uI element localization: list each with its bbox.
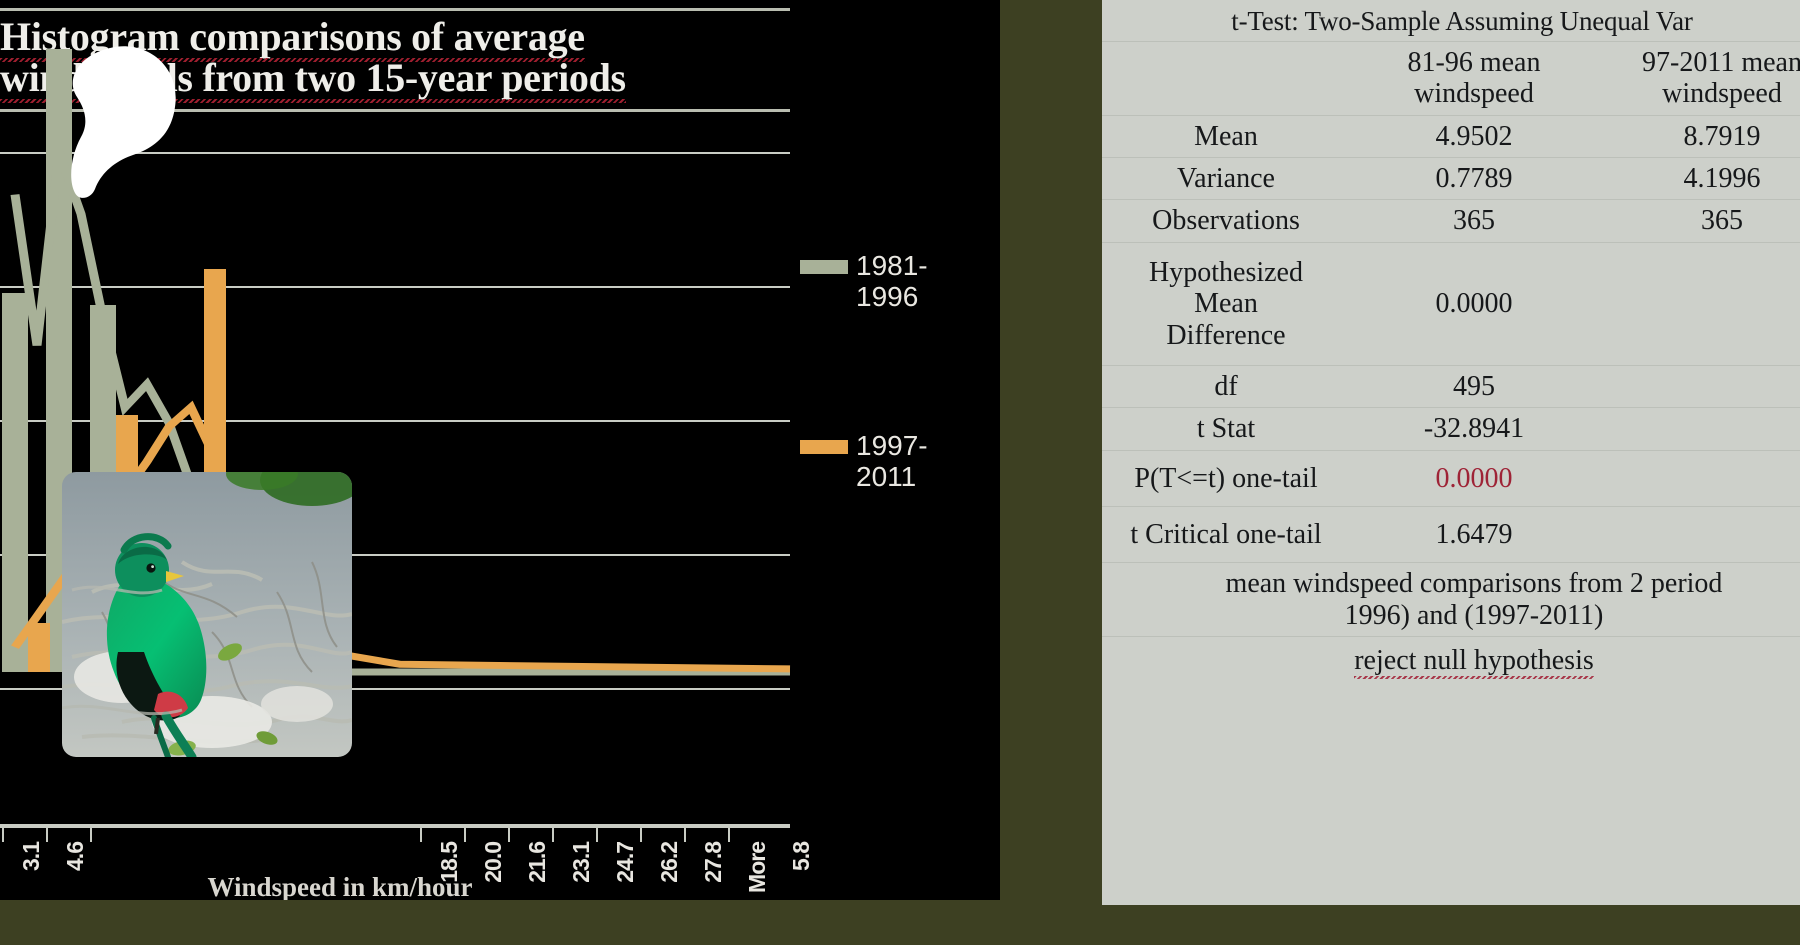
row-value-2 xyxy=(1598,450,1800,506)
legend-swatch-orange xyxy=(800,440,848,454)
legend-label-line1: 1981- xyxy=(856,250,966,281)
table-row: t Critical one-tail 1.6479 xyxy=(1102,506,1800,562)
row-label: Observations xyxy=(1102,200,1350,242)
row-label: df xyxy=(1102,365,1350,407)
row-label: P(T<=t) one-tail xyxy=(1102,450,1350,506)
row-value-1: 365 xyxy=(1350,200,1598,242)
row-value-2: 365 xyxy=(1598,200,1800,242)
footer-line-2: 1996) and (1997-2011) xyxy=(1106,600,1800,631)
table-row: Mean 4.9502 8.7919 xyxy=(1102,115,1800,157)
table-footer-row: mean windspeed comparisons from 2 period… xyxy=(1102,563,1800,637)
table-row: Observations 365 365 xyxy=(1102,200,1800,242)
legend-item-1981-1996[interactable]: 1981- 1996 xyxy=(800,250,966,313)
x-tick-label: 3.1 xyxy=(18,842,45,871)
x-tick-label: 4.6 xyxy=(62,842,89,871)
x-tick-label-more: More xyxy=(744,842,771,893)
x-tick-label: 5.8 xyxy=(788,842,815,871)
row-value-2 xyxy=(1598,408,1800,450)
table-row: Hypothesized Mean Difference 0.0000 xyxy=(1102,242,1800,365)
cursor-blob-icon xyxy=(55,45,185,200)
table-conclusion-row: reject null hypothesis xyxy=(1102,637,1800,685)
row-value-2 xyxy=(1598,242,1800,365)
quetzal-photo[interactable] xyxy=(62,472,352,757)
x-axis-line xyxy=(0,824,790,828)
chart-panel: Histogram comparisons of average windspe… xyxy=(0,0,1000,900)
ttest-caption: t-Test: Two-Sample Assuming Unequal Var xyxy=(1102,0,1800,41)
table-footer-note: mean windspeed comparisons from 2 period… xyxy=(1102,563,1800,637)
row-label: Hypothesized Mean Difference xyxy=(1102,242,1350,365)
table-header-col2: 97-2011 mean windspeed xyxy=(1598,42,1800,116)
x-tick xyxy=(2,828,4,842)
row-label: Variance xyxy=(1102,158,1350,200)
legend-swatch-green xyxy=(800,260,848,274)
ttest-table: 81-96 mean windspeed 97-2011 mean windsp… xyxy=(1102,41,1800,684)
row-value-2: 8.7919 xyxy=(1598,115,1800,157)
x-tick xyxy=(728,828,730,842)
legend-label-line2: 2011 xyxy=(856,461,966,492)
x-tick xyxy=(90,828,92,842)
x-tick xyxy=(464,828,466,842)
row-value-pvalue: 0.0000 xyxy=(1350,450,1598,506)
ttest-results-panel: t-Test: Two-Sample Assuming Unequal Var … xyxy=(1102,0,1800,905)
footer-line-1: mean windspeed comparisons from 2 period xyxy=(1106,568,1800,599)
x-tick xyxy=(508,828,510,842)
x-tick xyxy=(684,828,686,842)
table-header-row: 81-96 mean windspeed 97-2011 mean windsp… xyxy=(1102,42,1800,116)
row-value-1: 4.9502 xyxy=(1350,115,1598,157)
legend-label-1997-2011: 1997- 2011 xyxy=(856,430,966,493)
table-header-col1: 81-96 mean windspeed xyxy=(1350,42,1598,116)
row-value-2 xyxy=(1598,365,1800,407)
x-tick xyxy=(552,828,554,842)
x-axis-title: Windspeed in km/hour xyxy=(0,872,680,900)
x-tick xyxy=(46,828,48,842)
row-value-1: 0.0000 xyxy=(1350,242,1598,365)
row-value-1: 495 xyxy=(1350,365,1598,407)
table-conclusion: reject null hypothesis xyxy=(1102,637,1800,685)
x-tick xyxy=(596,828,598,842)
legend-item-1997-2011[interactable]: 1997- 2011 xyxy=(800,430,966,493)
row-label: t Stat xyxy=(1102,408,1350,450)
conclusion-text: reject null hypothesis xyxy=(1354,645,1594,676)
row-label: Mean xyxy=(1102,115,1350,157)
legend-label-line1: 1997- xyxy=(856,430,966,461)
row-label: t Critical one-tail xyxy=(1102,506,1350,562)
legend-label-1981-1996: 1981- 1996 xyxy=(856,250,966,313)
table-row: t Stat -32.8941 xyxy=(1102,408,1800,450)
x-tick xyxy=(640,828,642,842)
x-tick xyxy=(420,828,422,842)
x-tick-label: 27.8 xyxy=(700,842,727,883)
quetzal-photo-image xyxy=(62,472,352,757)
legend-label-line2: 1996 xyxy=(856,281,966,312)
row-value-2 xyxy=(1598,506,1800,562)
row-value-1: 0.7789 xyxy=(1350,158,1598,200)
row-value-1: 1.6479 xyxy=(1350,506,1598,562)
table-row-pvalue: P(T<=t) one-tail 0.0000 xyxy=(1102,450,1800,506)
table-row: Variance 0.7789 4.1996 xyxy=(1102,158,1800,200)
table-row: df 495 xyxy=(1102,365,1800,407)
row-value-1: -32.8941 xyxy=(1350,408,1598,450)
table-header-blank xyxy=(1102,42,1350,116)
row-value-2: 4.1996 xyxy=(1598,158,1800,200)
